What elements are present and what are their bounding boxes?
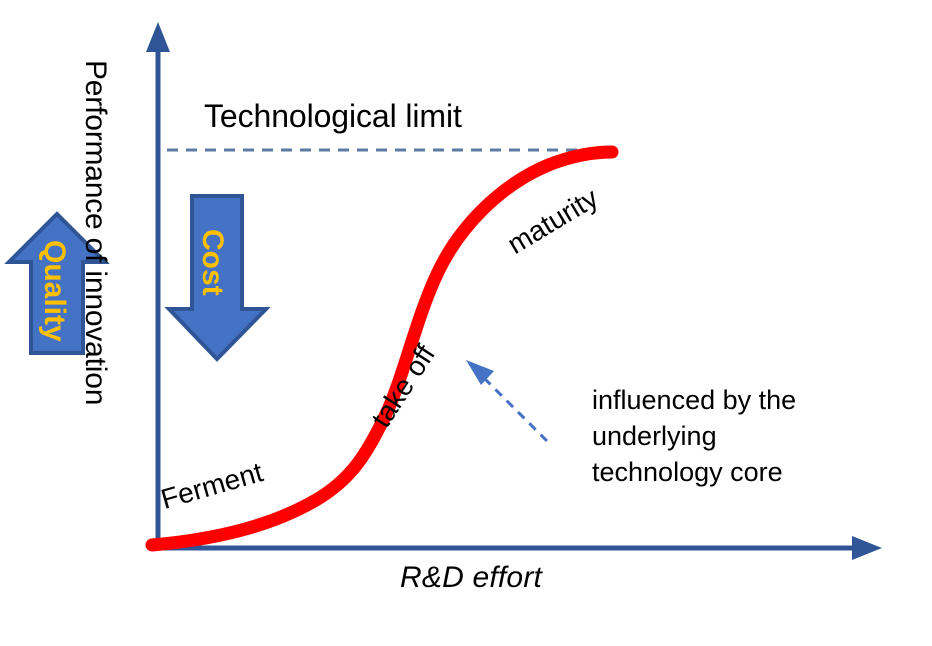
diagram-vector-layer: [0, 0, 932, 646]
quality-arrow-label: Quality: [37, 240, 71, 342]
y-axis-label: Performance of innovation: [80, 60, 110, 405]
cost-arrow-label: Cost: [195, 229, 229, 296]
y-axis-arrowhead: [146, 22, 170, 52]
take-off-phase-label: take off: [367, 340, 440, 432]
influence-note: influenced by the underlying technology …: [592, 382, 842, 490]
maturity-phase-label: maturity: [503, 184, 603, 259]
diagram-canvas: Performance of innovation R&D effort Tec…: [0, 0, 932, 646]
x-axis-arrowhead: [852, 536, 882, 560]
influence-pointer-line: [479, 373, 547, 441]
influence-note-line-1: influenced by the: [592, 382, 842, 418]
x-axis-label: R&D effort: [400, 563, 542, 593]
technological-limit-label: Technological limit: [204, 100, 462, 132]
influence-note-line-3: technology core: [592, 454, 842, 490]
influence-pointer-arrowhead: [466, 360, 494, 385]
ferment-phase-label: Ferment: [158, 458, 266, 514]
influence-note-line-2: underlying: [592, 418, 842, 454]
